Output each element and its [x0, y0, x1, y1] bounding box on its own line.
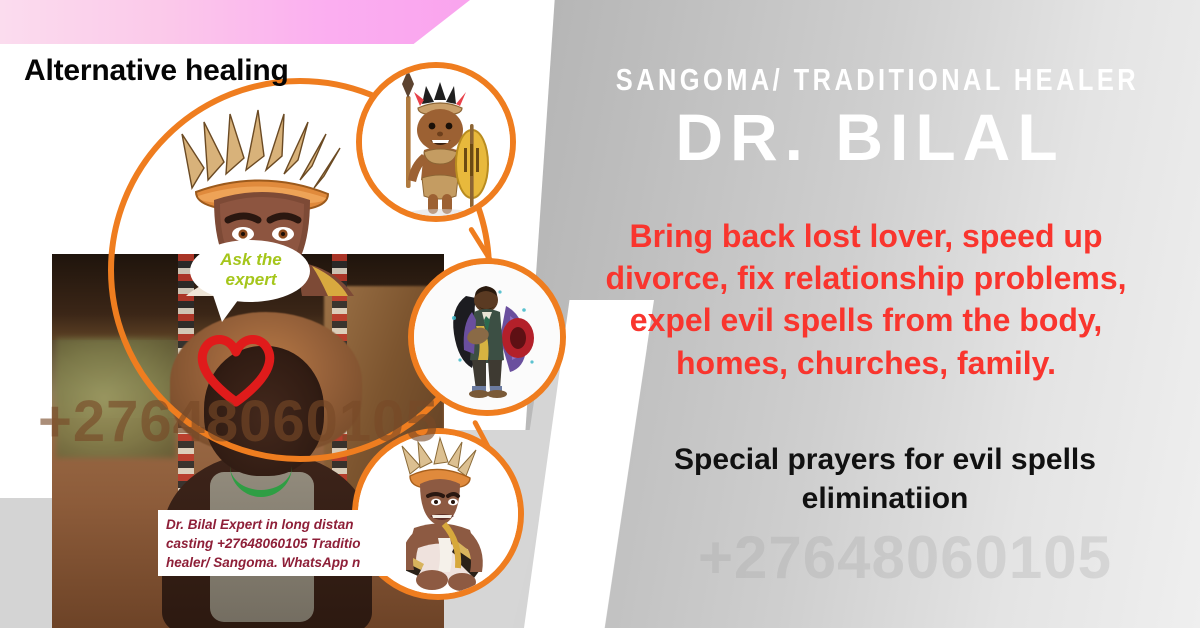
caption-line-2: casting +27648060105 Traditio	[166, 534, 400, 553]
services-line-1: Bring back lost lover, speed up	[629, 218, 1102, 254]
speech-bubble-text: Ask the expert	[196, 250, 306, 289]
caption-line-1: Dr. Bilal Expert in long distan	[166, 515, 400, 534]
kicker-text: SANGOMA/ TRADITIONAL HEALER	[616, 62, 1124, 98]
doctor-name: DR. BILAL	[560, 104, 1180, 170]
circle-illustration-warrior	[356, 62, 516, 222]
services-line-2: divorce, fix relationship problems,	[605, 260, 1126, 296]
services-line-4: homes, churches, family.	[676, 345, 1056, 381]
page-title: Alternative healing	[24, 54, 289, 88]
prayers-line-2: eliminatiion	[802, 482, 969, 515]
speech-line-2: expert	[225, 270, 276, 289]
services-line-3: expel evil spells from the body,	[630, 302, 1102, 338]
top-pink-band	[0, 0, 470, 44]
photo-caption-box: Dr. Bilal Expert in long distan casting …	[158, 510, 406, 576]
photo-phone-watermark: +27648060105	[38, 388, 458, 455]
services-text: Bring back lost lover, speed up divorce,…	[546, 215, 1186, 384]
speech-line-1: Ask the	[220, 250, 281, 269]
prayers-text: Special prayers for evil spells eliminat…	[600, 440, 1170, 518]
prayers-line-1: Special prayers for evil spells	[674, 443, 1096, 476]
phone-watermark: +27648060105	[620, 523, 1190, 592]
caption-line-3: healer/ Sangoma. WhatsApp n	[166, 553, 400, 572]
poster-canvas: Alternative healing	[0, 0, 1200, 628]
